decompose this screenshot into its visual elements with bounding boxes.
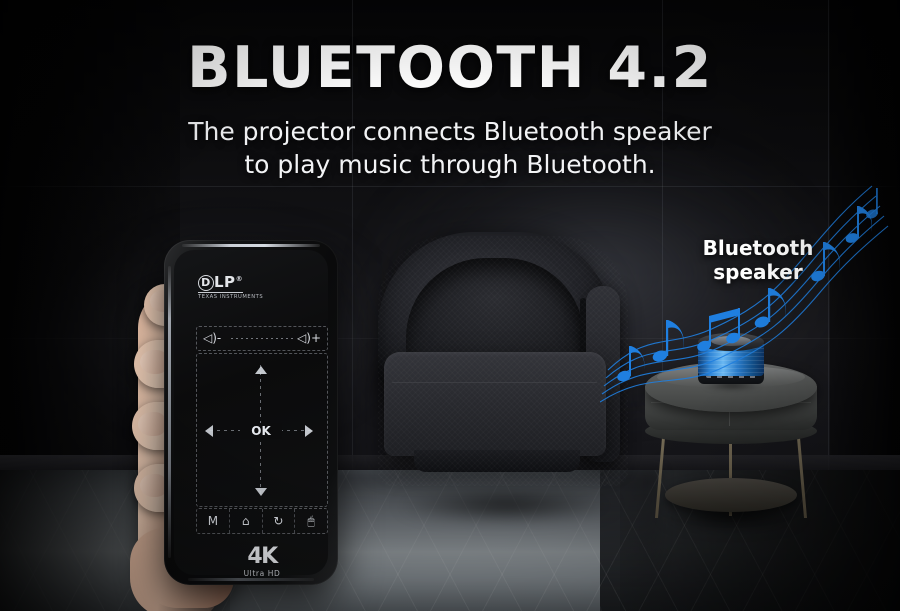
dlp-logo: DLP® TEXAS INSTRUMENTS xyxy=(198,272,272,300)
dpad-left-icon[interactable] xyxy=(205,425,213,437)
callout-line1: Bluetooth xyxy=(688,236,828,260)
function-button-row[interactable]: M ⌂ ↻ 🖱 xyxy=(196,508,328,534)
resolution-badge-text: 4K xyxy=(218,546,306,568)
table-lower-shelf xyxy=(665,478,797,512)
dlp-logo-o-letter: D xyxy=(198,275,214,291)
volume-control-row[interactable]: ◁)- ◁)+ xyxy=(196,326,328,351)
page-subtitle: The projector connects Bluetooth speaker… xyxy=(0,115,900,181)
dpad-up-icon[interactable] xyxy=(255,366,267,374)
ring-fingernail xyxy=(138,412,166,436)
page-subtitle-line1: The projector connects Bluetooth speaker xyxy=(0,115,900,148)
dpad-right-icon[interactable] xyxy=(305,425,313,437)
home-button[interactable]: ⌂ xyxy=(230,509,263,533)
speaker-top-inner xyxy=(711,336,751,346)
bluetooth-speaker xyxy=(694,330,768,384)
little-fingernail xyxy=(140,474,167,497)
armchair-base xyxy=(414,450,580,472)
volume-up-icon[interactable]: ◁)+ xyxy=(297,332,321,344)
device-top-edge-highlight xyxy=(182,244,320,247)
armchair-seat-cushion xyxy=(384,352,606,456)
dlp-wordmark: DLP® xyxy=(198,275,243,293)
registered-trademark-icon: ® xyxy=(236,275,244,283)
product-marketing-banner: BLUETOOTH 4.2 The projector connects Blu… xyxy=(0,0,900,611)
resolution-badge-subtext: Ultra HD xyxy=(218,569,306,578)
volume-down-icon[interactable]: ◁)- xyxy=(203,332,221,344)
mouse-mode-button[interactable]: 🖱 xyxy=(295,509,327,533)
table-leg-right xyxy=(796,426,807,518)
volume-slider-track[interactable] xyxy=(231,338,293,339)
back-button[interactable]: ↻ xyxy=(263,509,296,533)
device-touch-panel[interactable]: DLP® TEXAS INSTRUMENTS ◁)- ◁)+ OK M ⌂ xyxy=(174,250,328,575)
armchair xyxy=(370,232,635,502)
armchair-seat-seam xyxy=(392,382,597,383)
menu-button[interactable]: M xyxy=(197,509,230,533)
dpad-down-icon[interactable] xyxy=(255,488,267,496)
callout-line2: speaker xyxy=(688,260,828,284)
dpad-ok-button[interactable]: OK xyxy=(240,423,282,439)
page-title: BLUETOOTH 4.2 xyxy=(0,35,900,101)
device-left-edge-highlight xyxy=(168,266,171,558)
mini-projector-device[interactable]: DLP® TEXAS INSTRUMENTS ◁)- ◁)+ OK M ⌂ xyxy=(164,240,338,585)
dlp-logo-lp: LP xyxy=(214,273,236,291)
device-bottom-edge-highlight xyxy=(188,578,314,581)
bluetooth-speaker-callout-label: Bluetooth speaker xyxy=(688,236,828,284)
resolution-badge: 4K Ultra HD xyxy=(218,546,306,578)
texas-instruments-label: TEXAS INSTRUMENTS xyxy=(198,294,272,300)
page-subtitle-line2: to play music through Bluetooth. xyxy=(0,148,900,181)
table-leg-left xyxy=(655,426,666,518)
